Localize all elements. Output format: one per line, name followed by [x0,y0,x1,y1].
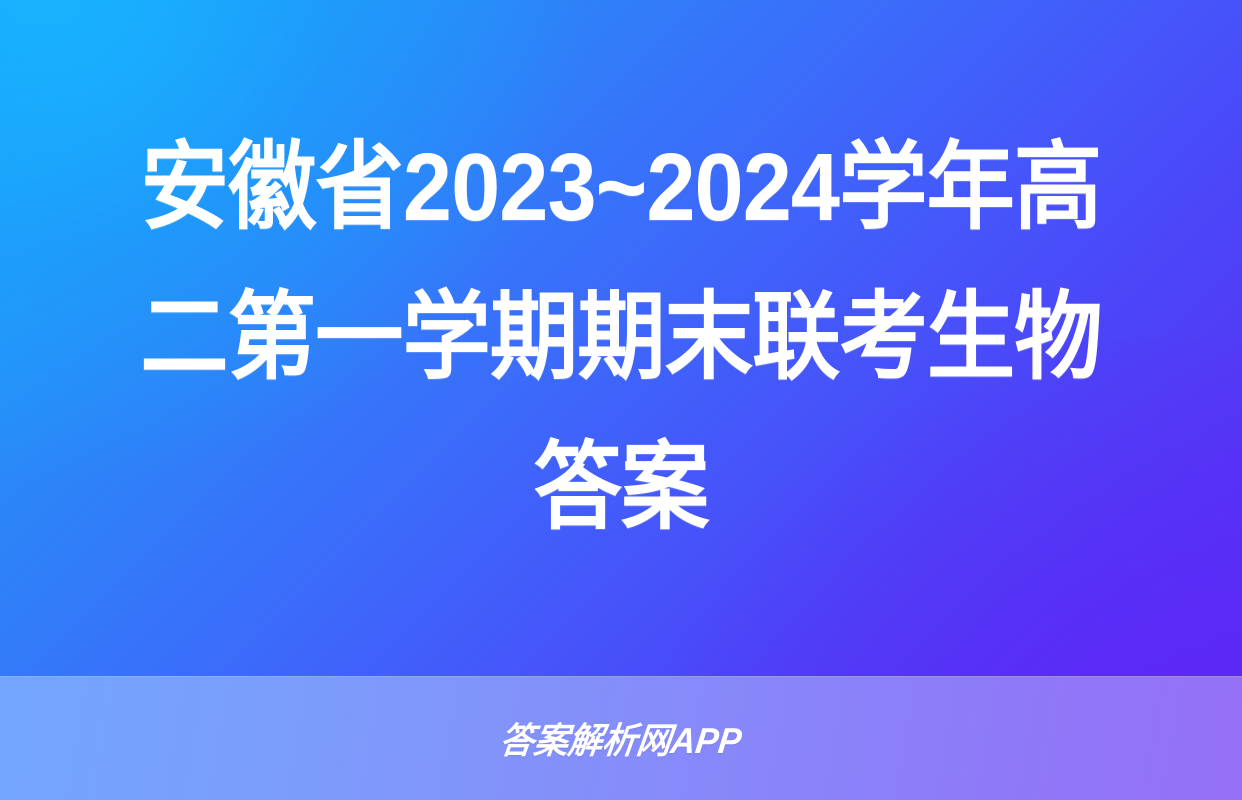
brand-watermark-label: 答案解析网APP [497,712,745,764]
title-container: 安徽省2023~2024学年高二第一学期期末联考生物答案 [0,0,1242,676]
page-title: 安徽省2023~2024学年高二第一学期期末联考生物答案 [118,113,1124,563]
poster-canvas: 安徽省2023~2024学年高二第一学期期末联考生物答案 答案解析网APP [0,0,1242,800]
watermark-band: 答案解析网APP [0,676,1242,800]
